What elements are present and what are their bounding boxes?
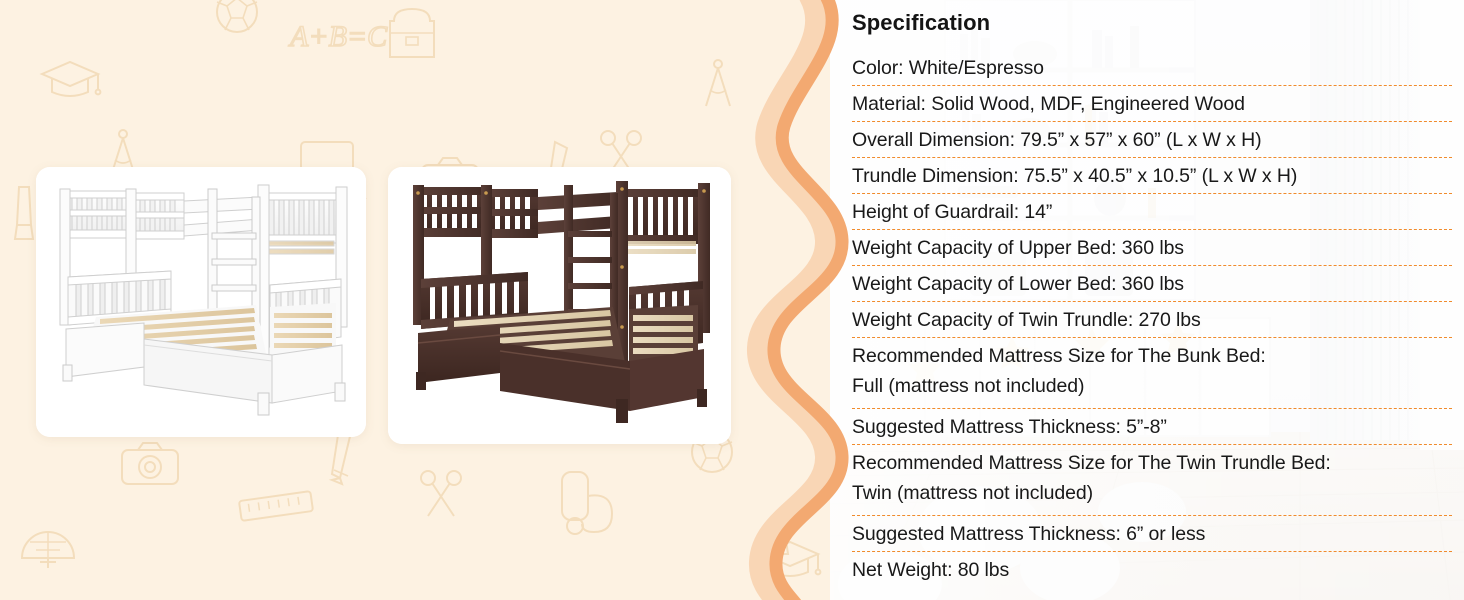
spec-row-net-weight: Net Weight: 80 lbs — [852, 552, 1452, 588]
spec-line: Material: Solid Wood, MDF, Engineered Wo… — [852, 89, 1452, 119]
spec-line: Full (mattress not included) — [852, 371, 1452, 401]
spec-row-guardrail-height: Height of Guardrail: 14” — [852, 194, 1452, 230]
specification-panel: Specification Color: White/Espresso Mate… — [830, 0, 1464, 600]
spec-line: Overall Dimension: 79.5” x 57” x 60” (L … — [852, 125, 1452, 155]
spec-line: Net Weight: 80 lbs — [852, 555, 1452, 585]
spec-row-color: Color: White/Espresso — [852, 50, 1452, 86]
spec-line: Color: White/Espresso — [852, 53, 1452, 83]
spec-row-trundle-capacity: Weight Capacity of Twin Trundle: 270 lbs — [852, 302, 1452, 338]
specification-content: Specification Color: White/Espresso Mate… — [852, 0, 1452, 600]
spec-line: Height of Guardrail: 14” — [852, 197, 1452, 227]
white-bunk-bed-photo[interactable] — [36, 167, 366, 437]
product-gallery-panel: A+B=C — [0, 0, 830, 600]
spec-line: Twin (mattress not included) — [852, 478, 1452, 508]
spec-line: Suggested Mattress Thickness: 5”-8” — [852, 412, 1452, 442]
spec-row-trundle-mattress-thickness: Suggested Mattress Thickness: 6” or less — [852, 516, 1452, 552]
spec-line: Suggested Mattress Thickness: 6” or less — [852, 519, 1452, 549]
spec-row-trundle-dimension: Trundle Dimension: 75.5” x 40.5” x 10.5”… — [852, 158, 1452, 194]
specification-banner: A+B=C — [0, 0, 1464, 600]
spec-row-bunk-mattress-size: Recommended Mattress Size for The Bunk B… — [852, 338, 1452, 409]
spec-line: Weight Capacity of Upper Bed: 360 lbs — [852, 233, 1452, 263]
spec-line: Trundle Dimension: 75.5” x 40.5” x 10.5”… — [852, 161, 1452, 191]
spec-line: Recommended Mattress Size for The Twin T… — [852, 448, 1452, 478]
spec-line: Recommended Mattress Size for The Bunk B… — [852, 341, 1452, 371]
spec-row-overall-dimension: Overall Dimension: 79.5” x 57” x 60” (L … — [852, 122, 1452, 158]
spec-row-bunk-mattress-thickness: Suggested Mattress Thickness: 5”-8” — [852, 409, 1452, 445]
spec-row-trundle-mattress-size: Recommended Mattress Size for The Twin T… — [852, 445, 1452, 516]
spec-row-lower-bed-capacity: Weight Capacity of Lower Bed: 360 lbs — [852, 266, 1452, 302]
specification-list: Color: White/Espresso Material: Solid Wo… — [852, 50, 1452, 588]
spec-line: Weight Capacity of Twin Trundle: 270 lbs — [852, 305, 1452, 335]
spec-line: Weight Capacity of Lower Bed: 360 lbs — [852, 269, 1452, 299]
page-title: Specification — [852, 10, 990, 36]
spec-row-material: Material: Solid Wood, MDF, Engineered Wo… — [852, 86, 1452, 122]
espresso-bunk-bed-photo[interactable] — [388, 167, 731, 444]
spec-row-upper-bed-capacity: Weight Capacity of Upper Bed: 360 lbs — [852, 230, 1452, 266]
